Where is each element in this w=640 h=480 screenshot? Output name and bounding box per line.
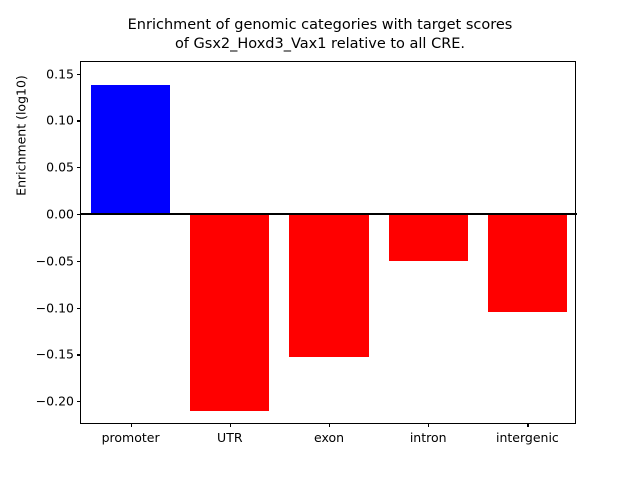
x-tick-label: intergenic — [496, 430, 559, 445]
x-tick-mark — [428, 423, 429, 427]
y-tick-label: −0.20 — [36, 394, 74, 409]
y-tick-mark — [77, 354, 81, 355]
x-tick-mark — [329, 423, 330, 427]
y-tick-label: 0.05 — [46, 160, 74, 175]
x-tick-mark — [131, 423, 132, 427]
y-tick-mark — [77, 308, 81, 309]
y-tick-mark — [77, 120, 81, 121]
x-tick-mark — [527, 423, 528, 427]
bar-intron — [389, 214, 468, 261]
plot-area: 0.150.100.050.00−0.05−0.10−0.15−0.20 pro… — [80, 61, 576, 424]
x-tick-label: exon — [314, 430, 344, 445]
x-tick-mark — [230, 423, 231, 427]
chart-figure: Enrichment of genomic categories with ta… — [0, 0, 640, 480]
zero-baseline — [81, 213, 577, 215]
y-tick-label: 0.00 — [46, 207, 74, 222]
bar-UTR — [190, 214, 269, 411]
y-tick-mark — [77, 167, 81, 168]
y-tick-label: −0.10 — [36, 300, 74, 315]
chart-title: Enrichment of genomic categories with ta… — [0, 16, 640, 54]
y-tick-label: −0.15 — [36, 347, 74, 362]
bar-intergenic — [488, 214, 567, 312]
x-tick-label: UTR — [217, 430, 242, 445]
y-axis-label: Enrichment (log10) — [14, 16, 29, 256]
x-tick-label: intron — [410, 430, 447, 445]
y-tick-mark — [77, 261, 81, 262]
y-tick-label: 0.10 — [46, 113, 74, 128]
bar-exon — [289, 214, 368, 357]
x-tick-label: promoter — [102, 430, 160, 445]
y-tick-label: −0.05 — [36, 253, 74, 268]
bar-promoter — [91, 85, 170, 214]
y-tick-mark — [77, 401, 81, 402]
y-tick-mark — [77, 74, 81, 75]
y-tick-label: 0.15 — [46, 66, 74, 81]
